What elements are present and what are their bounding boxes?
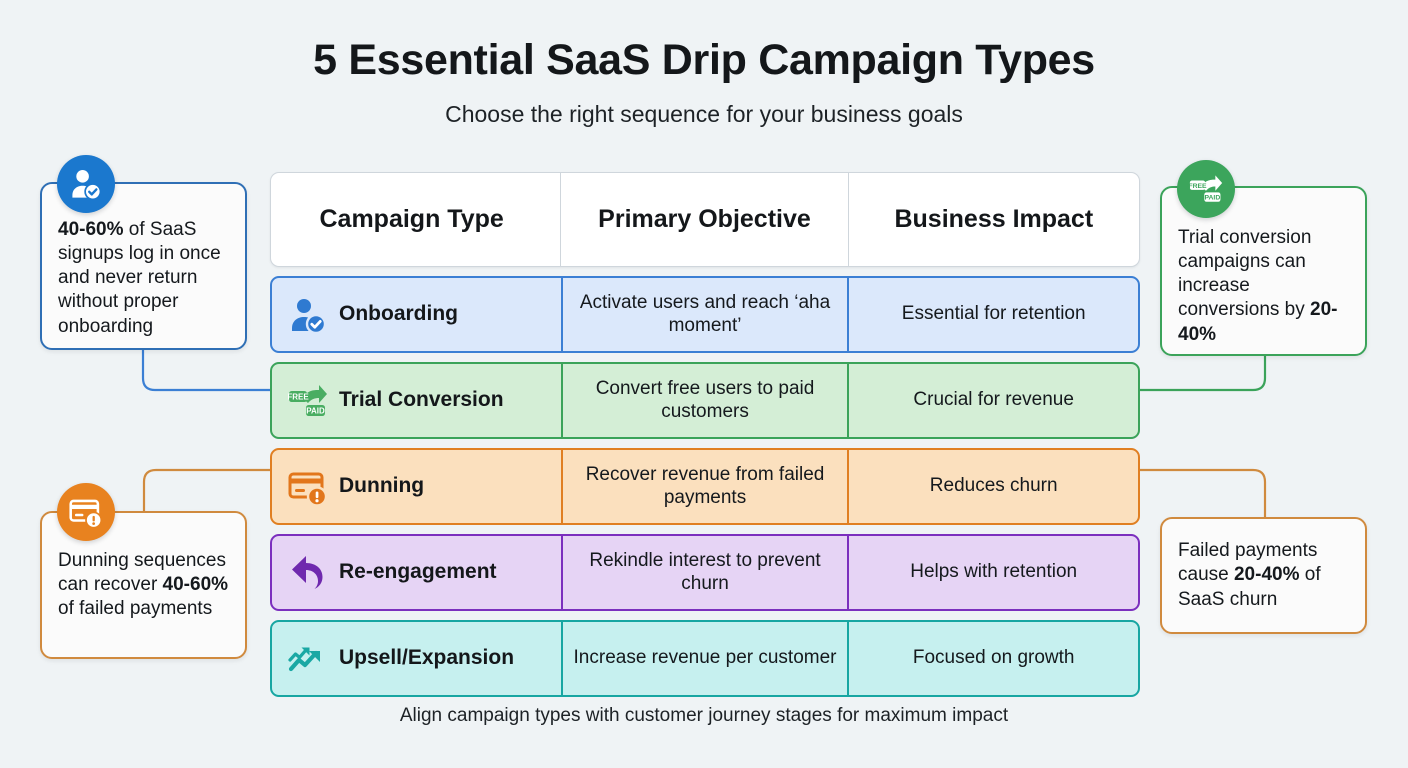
table-row[interactable]: Dunning Recover revenue from failed paym… (270, 448, 1140, 525)
campaign-type-cell: Upsell/Expansion (272, 622, 561, 695)
person-check-icon (288, 295, 328, 335)
person-check-icon (69, 167, 103, 201)
campaign-type-label: Re-engagement (339, 560, 497, 585)
primary-objective-cell: Activate users and reach ‘aha moment’ (561, 278, 848, 351)
business-impact-cell: Reduces churn (847, 450, 1138, 523)
business-impact-cell: Focused on growth (847, 622, 1138, 695)
primary-objective-cell: Convert free users to paid customers (561, 364, 848, 437)
campaign-type-label: Dunning (339, 474, 424, 499)
dunning-callout-badge (57, 483, 115, 541)
business-impact-cell: Helps with retention (847, 536, 1138, 609)
primary-objective-cell: Rekindle interest to prevent churn (561, 536, 848, 609)
svg-text:FREE: FREE (288, 392, 309, 401)
table-row[interactable]: Onboarding Activate users and reach ‘aha… (270, 276, 1140, 353)
svg-text:PAID: PAID (306, 406, 325, 415)
table-header-row: Campaign Type Primary Objective Business… (270, 172, 1140, 267)
svg-text:PAID: PAID (1205, 195, 1221, 202)
churn-callout: Failed payments cause 20-40% of SaaS chu… (1160, 517, 1367, 634)
callout-bold: 40-60% (163, 574, 229, 595)
callout-text-post: of failed payments (58, 598, 212, 619)
callout-bold: 20-40% (1234, 564, 1300, 585)
credit-card-alert-icon (69, 495, 103, 529)
campaign-type-label: Upsell/Expansion (339, 646, 514, 671)
business-impact-cell: Crucial for revenue (847, 364, 1138, 437)
credit-card-alert-icon (288, 467, 328, 507)
trial-callout-badge: FREE PAID (1177, 160, 1235, 218)
callout-bold: 40-60% (58, 219, 124, 240)
column-header-primary-objective: Primary Objective (560, 173, 847, 266)
campaign-type-label: Onboarding (339, 302, 458, 327)
table-row[interactable]: FREE PAID Trial Conversion Convert free … (270, 362, 1140, 439)
column-header-campaign-type: Campaign Type (271, 173, 560, 266)
free-to-paid-icon: FREE PAID (288, 381, 328, 421)
callout-text: Trial conversion campaigns can increase … (1178, 227, 1311, 320)
primary-objective-cell: Increase revenue per customer (561, 622, 848, 695)
campaign-type-cell: FREE PAID Trial Conversion (272, 364, 561, 437)
svg-text:FREE: FREE (1189, 183, 1207, 190)
primary-objective-cell: Recover revenue from failed payments (561, 450, 848, 523)
growth-arrows-icon (288, 639, 328, 679)
column-header-business-impact: Business Impact (848, 173, 1139, 266)
campaign-type-label: Trial Conversion (339, 388, 504, 413)
campaign-table: Campaign Type Primary Objective Business… (270, 172, 1140, 697)
onboarding-callout-badge (57, 155, 115, 213)
campaign-type-cell: Onboarding (272, 278, 561, 351)
campaign-type-cell: Re-engagement (272, 536, 561, 609)
free-to-paid-icon: FREE PAID (1189, 172, 1223, 206)
table-row[interactable]: Re-engagement Rekindle interest to preve… (270, 534, 1140, 611)
campaign-type-cell: Dunning (272, 450, 561, 523)
infographic-canvas: 5 Essential SaaS Drip Campaign Types Cho… (0, 0, 1408, 768)
table-row[interactable]: Upsell/Expansion Increase revenue per cu… (270, 620, 1140, 697)
undo-arrow-icon (288, 553, 328, 593)
business-impact-cell: Essential for retention (847, 278, 1138, 351)
